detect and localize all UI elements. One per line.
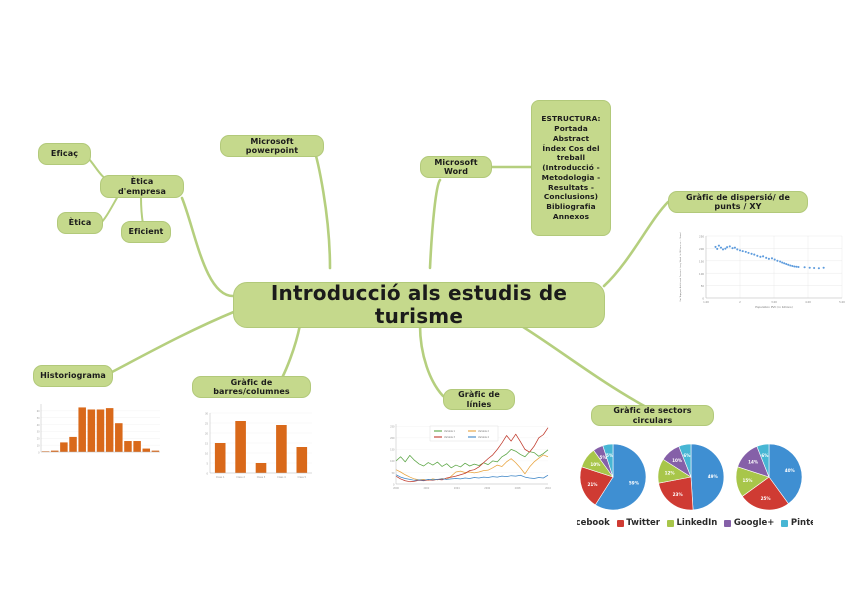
svg-text:40%: 40%: [785, 468, 796, 473]
bar-chart-figure: 051015202530Class 1Class 2Class 3Class 4…: [194, 407, 316, 492]
svg-text:100: 100: [699, 272, 704, 276]
node-etica-empresa[interactable]: Ètica d'empresa: [100, 175, 184, 198]
node-label: Gràfic de línies: [451, 390, 507, 408]
node-etica[interactable]: Ètica: [57, 212, 103, 234]
svg-text:Class 5: Class 5: [298, 476, 307, 479]
svg-text:21%: 21%: [587, 482, 598, 487]
svg-text:12%: 12%: [665, 471, 676, 476]
svg-text:4.00: 4.00: [805, 300, 811, 304]
node-label: Eficaç: [51, 149, 78, 158]
svg-text:5%: 5%: [606, 453, 614, 458]
svg-text:2010: 2010: [545, 487, 551, 490]
legend-swatch: [724, 520, 731, 527]
legend-label: Google+: [734, 518, 775, 528]
svg-text:2008: 2008: [515, 487, 521, 490]
node-label: Gràfic de dispersió/ de punts / XY: [676, 193, 800, 211]
node-grafic-linies[interactable]: Gràfic de línies: [443, 389, 515, 410]
svg-text:Variable 3: Variable 3: [444, 436, 456, 439]
node-eficac[interactable]: Eficaç: [38, 143, 91, 165]
svg-text:2004: 2004: [454, 487, 460, 490]
svg-text:200: 200: [699, 247, 704, 251]
node-eficient[interactable]: Eficient: [121, 221, 171, 243]
svg-text:14%: 14%: [748, 460, 759, 465]
svg-text:100: 100: [390, 460, 395, 463]
legend-label: Facebook: [577, 518, 610, 528]
svg-text:Rat Trap per Additional Percen: Rat Trap per Additional Percent, Long Wa…: [679, 232, 682, 301]
svg-text:2000: 2000: [393, 487, 399, 490]
legend-label: Twitter: [626, 518, 660, 528]
svg-text:6%: 6%: [761, 453, 769, 458]
svg-text:30: 30: [205, 412, 209, 415]
pie-charts-figure: 59%21%10%5%5%49%23%12%10%6%40%25%15%14%6…: [577, 436, 813, 540]
node-grafic-dispersio[interactable]: Gràfic de dispersió/ de punts / XY: [668, 191, 808, 213]
svg-text:25%: 25%: [761, 496, 772, 501]
central-node[interactable]: Introducció als estudis de turisme: [233, 282, 605, 328]
node-grafic-barres[interactable]: Gràfic de barres/columnes: [192, 376, 311, 398]
svg-text:2002: 2002: [423, 487, 429, 490]
node-label: Ètica: [69, 218, 92, 227]
node-label: Gràfic de sectors circulars: [599, 406, 706, 424]
pie-legend: FacebookTwitterLinkedInGoogle+Pinterest: [577, 518, 813, 528]
svg-text:Class 4: Class 4: [277, 476, 286, 479]
svg-text:Population PVC (in billions): Population PVC (in billions): [755, 305, 792, 309]
legend-swatch: [667, 520, 674, 527]
line-chart-figure: 050100150200250200020022004200620082010V…: [378, 418, 552, 502]
svg-text:15: 15: [205, 442, 209, 445]
svg-text:150: 150: [699, 259, 704, 263]
svg-text:Class 1: Class 1: [216, 476, 225, 479]
svg-text:Class 3: Class 3: [257, 476, 266, 479]
node-microsoft-powerpoint[interactable]: Microsoft powerpoint: [220, 135, 324, 157]
svg-text:2006: 2006: [484, 487, 490, 490]
svg-text:50: 50: [701, 284, 705, 288]
svg-text:150: 150: [390, 449, 395, 452]
svg-text:10%: 10%: [672, 458, 683, 463]
svg-text:3.00: 3.00: [771, 300, 777, 304]
svg-text:Variable 1: Variable 1: [444, 430, 456, 433]
node-estructura-note[interactable]: ESTRUCTURA: Portada Abstract Índex Cos d…: [531, 100, 611, 236]
svg-text:20: 20: [205, 432, 209, 435]
svg-text:10: 10: [205, 452, 209, 455]
svg-text:Variable 2: Variable 2: [478, 430, 490, 433]
svg-text:25: 25: [205, 422, 209, 425]
svg-text:15%: 15%: [742, 478, 753, 483]
svg-text:200: 200: [390, 437, 395, 440]
node-label: Ètica d'empresa: [108, 177, 176, 195]
node-label: Historiograma: [40, 371, 106, 380]
node-historiograma[interactable]: Historiograma: [33, 365, 113, 387]
pie-legend-item: Pinterest: [781, 518, 813, 528]
legend-swatch: [781, 520, 788, 527]
svg-text:250: 250: [699, 235, 704, 239]
svg-text:250: 250: [390, 426, 395, 429]
legend-label: Pinterest: [791, 518, 813, 528]
legend-label: LinkedIn: [676, 518, 717, 528]
estructura-text: ESTRUCTURA: Portada Abstract Índex Cos d…: [537, 114, 605, 221]
pie-legend-item: Facebook: [577, 518, 610, 528]
scatter-chart-figure: 0501001502002501.0023.004.005.00Populati…: [672, 228, 848, 316]
svg-text:49%: 49%: [708, 474, 719, 479]
node-grafic-sectors[interactable]: Gràfic de sectors circulars: [591, 405, 714, 426]
node-label: Microsoft powerpoint: [228, 137, 316, 155]
mindmap-canvas: Introducció als estudis de turisme Efica…: [0, 0, 848, 599]
pie-legend-item: LinkedIn: [667, 518, 717, 528]
node-label: Microsoft Word: [428, 158, 484, 176]
legend-swatch: [617, 520, 624, 527]
node-microsoft-word[interactable]: Microsoft Word: [420, 156, 492, 178]
pie-legend-item: Google+: [724, 518, 774, 528]
svg-text:59%: 59%: [629, 481, 640, 486]
svg-text:Variable 4: Variable 4: [478, 436, 490, 439]
svg-text:1.00: 1.00: [703, 300, 709, 304]
svg-text:Class 2: Class 2: [236, 476, 245, 479]
svg-text:5.00: 5.00: [839, 300, 845, 304]
pie-legend-item: Twitter: [617, 518, 660, 528]
svg-text:23%: 23%: [673, 492, 684, 497]
histogram-figure: 0102030405060: [28, 400, 164, 462]
svg-text:6%: 6%: [683, 453, 691, 458]
svg-text:10%: 10%: [590, 462, 601, 467]
node-label: Eficient: [129, 227, 164, 236]
central-node-label: Introducció als estudis de turisme: [250, 282, 588, 328]
node-label: Gràfic de barres/columnes: [200, 378, 303, 396]
